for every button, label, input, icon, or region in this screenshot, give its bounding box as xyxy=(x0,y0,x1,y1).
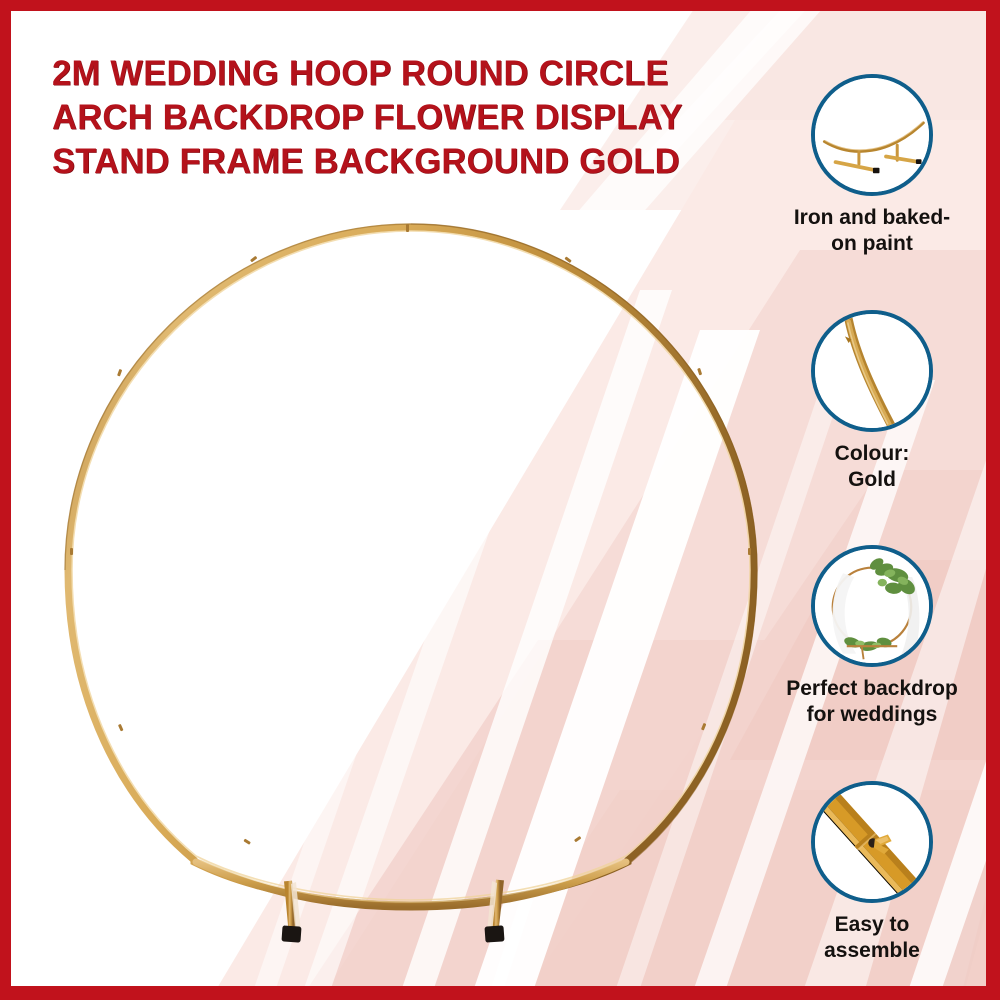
hoop-connector-joints xyxy=(70,224,751,845)
feature-label-assembly: Easy to assemble xyxy=(758,912,986,964)
hoop-ring xyxy=(65,224,757,905)
feature-label-material: Iron and baked- on paint xyxy=(758,205,986,257)
feature-thumb-material xyxy=(811,74,933,196)
feature-thumb-assembly xyxy=(811,781,933,903)
feature-label-use-case: Perfect backdrop for weddings xyxy=(758,676,986,728)
feature-callout-use-case: Perfect backdrop for weddings xyxy=(758,545,986,728)
feature-label-line: Colour: xyxy=(764,441,980,467)
stand-foot-left xyxy=(281,925,301,942)
feature-callout-colour: Colour: Gold xyxy=(758,310,986,493)
feature-label-line: Gold xyxy=(764,467,980,493)
feature-label-line: Easy to xyxy=(764,912,980,938)
feature-callout-rail: Iron and baked- on paint Colour: Gold xyxy=(758,11,986,986)
feature-label-line: for weddings xyxy=(764,702,980,728)
product-title: 2M WEDDING HOOP ROUND CIRCLE ARCH BACKDR… xyxy=(52,52,752,184)
stand-foot-right xyxy=(484,925,504,942)
feature-thumb-use-case xyxy=(811,545,933,667)
stand-leg-right xyxy=(484,880,504,943)
title-line-3: STAND FRAME BACKGROUND GOLD xyxy=(52,140,742,184)
decorated-wedding-hoop-thumbnail-icon xyxy=(815,549,929,663)
feature-label-line: assemble xyxy=(764,938,980,964)
product-listing-image: 2M WEDDING HOOP ROUND CIRCLE ARCH BACKDR… xyxy=(0,0,1000,1000)
feature-thumb-colour xyxy=(811,310,933,432)
feature-label-colour: Colour: Gold xyxy=(758,441,986,493)
hoop-base-stand-thumbnail-icon xyxy=(815,78,929,192)
feature-label-line: Perfect backdrop xyxy=(764,676,980,702)
feature-callout-material: Iron and baked- on paint xyxy=(758,74,986,257)
feature-label-line: Iron and baked- xyxy=(764,205,980,231)
gold-tube-connector-thumbnail-icon xyxy=(815,785,929,899)
gold-rod-closeup-thumbnail-icon xyxy=(815,314,929,428)
title-line-2: ARCH BACKDROP FLOWER DISPLAY xyxy=(52,96,742,140)
feature-label-line: on paint xyxy=(764,231,980,257)
feature-callout-assembly: Easy to assemble xyxy=(758,781,986,964)
title-line-1: 2M WEDDING HOOP ROUND CIRCLE xyxy=(52,52,742,96)
